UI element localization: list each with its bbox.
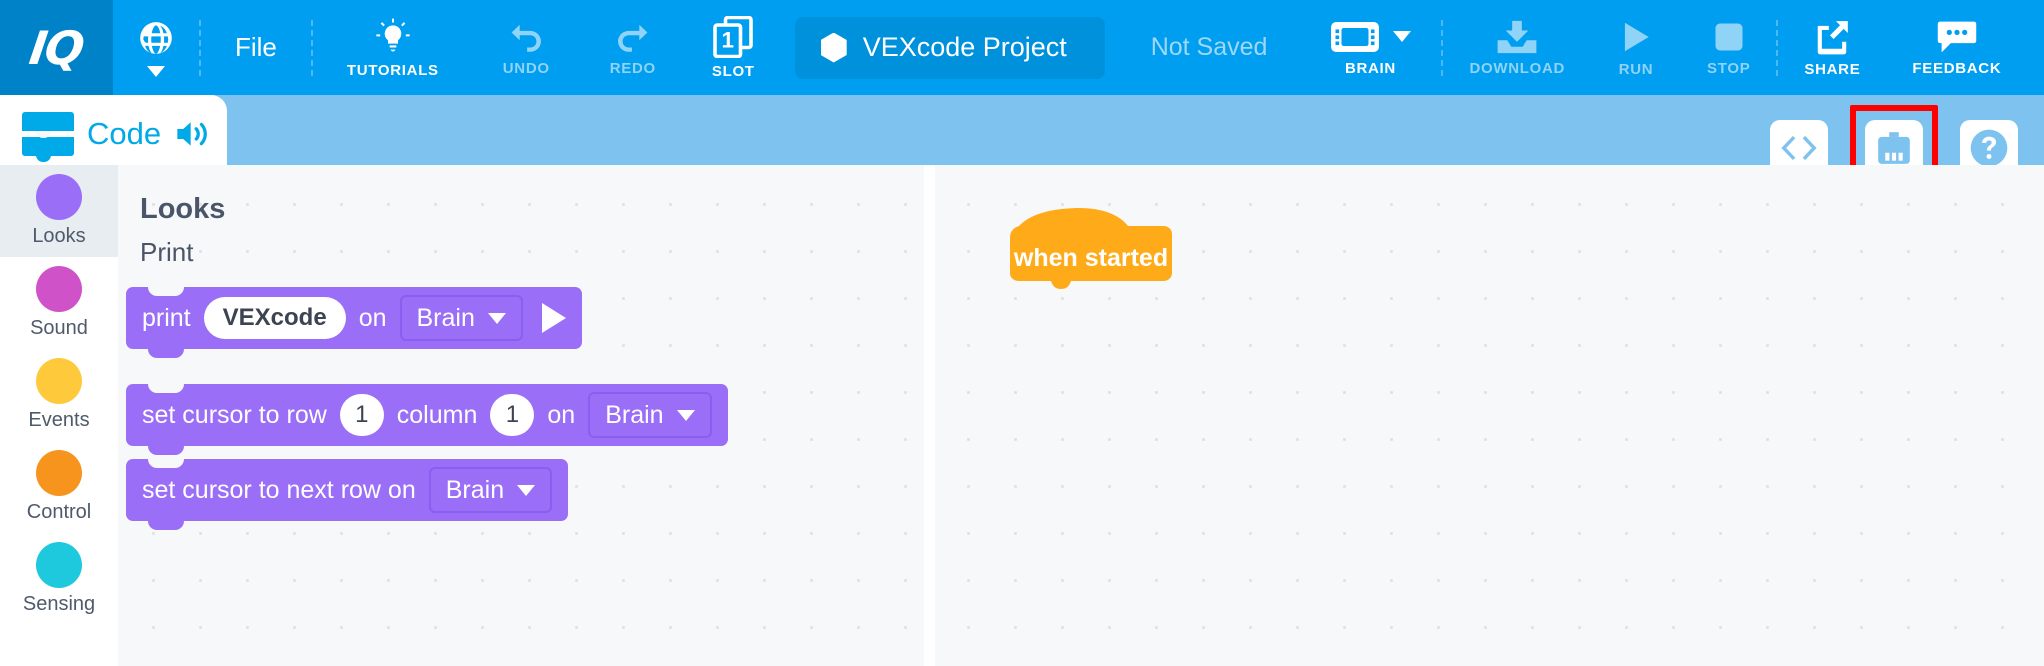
sidebar-item-sound[interactable]: Sound [0, 257, 118, 349]
block-print-text-input[interactable]: VEXcode [204, 297, 346, 339]
block-print-middle: on [359, 304, 387, 333]
stop-button[interactable]: STOP [1681, 0, 1776, 95]
tutorials-button[interactable]: TUTORIALS [313, 0, 473, 95]
vex-iq-logo[interactable]: IQ [0, 0, 113, 95]
block-when-started-label: when started [1010, 208, 1172, 290]
sidebar-item-sensing[interactable]: Sensing [0, 533, 118, 625]
sidebar-item-label: Looks [32, 225, 85, 248]
code-workspace[interactable]: when started [935, 165, 2044, 666]
sidebar-item-events[interactable]: Events [0, 349, 118, 441]
tab-code-label: Code [87, 116, 161, 152]
chevron-down-icon [677, 410, 695, 421]
top-toolbar: IQ File TUTORIALS UNDO REDO 1 [0, 0, 2044, 95]
sidebar-item-label: Sensing [23, 593, 95, 616]
chevron-down-icon [488, 313, 506, 324]
sidebar-item-looks[interactable]: Looks [0, 165, 118, 257]
block-set-cursor-prefix: set cursor to row [142, 401, 327, 430]
category-color-dot [36, 542, 82, 588]
palette-category-title: Looks [140, 193, 225, 226]
save-status: Not Saved [1119, 0, 1300, 95]
run-label: RUN [1619, 61, 1654, 78]
category-color-dot [36, 174, 82, 220]
redo-icon [611, 19, 655, 55]
undo-icon [504, 19, 548, 55]
block-when-started[interactable]: when started [1010, 208, 1172, 290]
block-print-device-dropdown[interactable]: Brain [400, 295, 523, 341]
block-print-prefix: print [142, 304, 191, 333]
block-set-cursor-suffix: on [547, 401, 575, 430]
question-mark-icon [1969, 128, 2009, 168]
palette-section-subtitle: Print [140, 237, 193, 268]
brain-device-icon [1329, 19, 1381, 55]
sidebar-item-label: Sound [30, 317, 88, 340]
block-next-row-device-label: Brain [446, 476, 504, 505]
sidebar-item-control[interactable]: Control [0, 441, 118, 533]
share-button[interactable]: SHARE [1778, 0, 1886, 95]
tutorials-label: TUTORIALS [347, 62, 439, 79]
feedback-chat-icon [1937, 19, 1977, 55]
code-brackets-icon [1779, 134, 1819, 162]
chevron-down-icon [1393, 31, 1411, 42]
logo-text: IQ [27, 21, 87, 75]
share-icon [1813, 18, 1851, 56]
block-next-row-device-dropdown[interactable]: Brain [429, 467, 552, 513]
block-print-device-label: Brain [417, 304, 475, 333]
block-set-cursor-middle: column [397, 401, 478, 430]
feedback-button[interactable]: FEEDBACK [1886, 0, 2027, 95]
block-next-row-prefix: set cursor to next row on [142, 476, 416, 505]
category-color-dot [36, 450, 82, 496]
category-sidebar: Looks Sound Events Control Sensing [0, 165, 118, 666]
block-set-cursor-row-column[interactable]: set cursor to row 1 column 1 on Brain [126, 384, 728, 446]
project-name-text: VEXcode Project [863, 32, 1067, 63]
file-menu-label: File [235, 32, 277, 63]
slot-selector-button[interactable]: 1 SLOT [686, 0, 781, 95]
redo-button[interactable]: REDO [580, 0, 686, 95]
chevron-down-icon [147, 66, 165, 77]
undo-button[interactable]: UNDO [473, 0, 580, 95]
svg-text:1: 1 [722, 27, 735, 52]
brain-label: BRAIN [1345, 60, 1396, 77]
block-palette[interactable]: Looks Print print VEXcode on Brain set c… [118, 165, 924, 666]
sidebar-item-label: Control [27, 501, 91, 524]
main-area: Looks Sound Events Control Sensing Looks… [0, 165, 2044, 666]
block-print[interactable]: print VEXcode on Brain [126, 287, 582, 349]
block-set-cursor-next-row[interactable]: set cursor to next row on Brain [126, 459, 568, 521]
chevron-down-icon [517, 485, 535, 496]
block-run-play-icon[interactable] [542, 303, 566, 333]
run-button[interactable]: RUN [1591, 0, 1681, 95]
slot-label: SLOT [712, 63, 755, 80]
blocks-icon [22, 112, 74, 156]
feedback-label: FEEDBACK [1912, 60, 2001, 77]
stop-square-icon [1711, 19, 1747, 55]
file-menu-button[interactable]: File [201, 0, 311, 95]
stop-label: STOP [1707, 60, 1750, 77]
download-label: DOWNLOAD [1469, 60, 1565, 77]
toolbox-icon [1875, 130, 1913, 166]
share-label: SHARE [1804, 61, 1860, 78]
category-color-dot [36, 358, 82, 404]
block-set-cursor-device-dropdown[interactable]: Brain [588, 392, 711, 438]
play-icon [1617, 18, 1655, 56]
download-button[interactable]: DOWNLOAD [1443, 0, 1591, 95]
project-name-field[interactable]: VEXcode Project [795, 17, 1105, 79]
download-icon [1496, 19, 1538, 55]
undo-label: UNDO [503, 60, 550, 77]
block-set-cursor-row-input[interactable]: 1 [340, 394, 384, 436]
block-set-cursor-column-input[interactable]: 1 [490, 394, 534, 436]
lightbulb-icon [373, 17, 413, 57]
redo-label: REDO [610, 60, 656, 77]
save-status-text: Not Saved [1119, 33, 1300, 62]
speaker-icon [174, 117, 214, 151]
category-color-dot [36, 266, 82, 312]
brain-selector-button[interactable]: BRAIN [1299, 0, 1441, 95]
sidebar-item-label: Events [28, 409, 89, 432]
tab-bar: Code [0, 95, 2044, 165]
hexagon-icon [821, 33, 847, 63]
slot-pages-icon: 1 [713, 16, 753, 58]
language-selector[interactable] [113, 0, 199, 95]
globe-icon [137, 19, 175, 57]
tab-code[interactable]: Code [0, 95, 227, 173]
block-set-cursor-device-label: Brain [605, 401, 663, 430]
